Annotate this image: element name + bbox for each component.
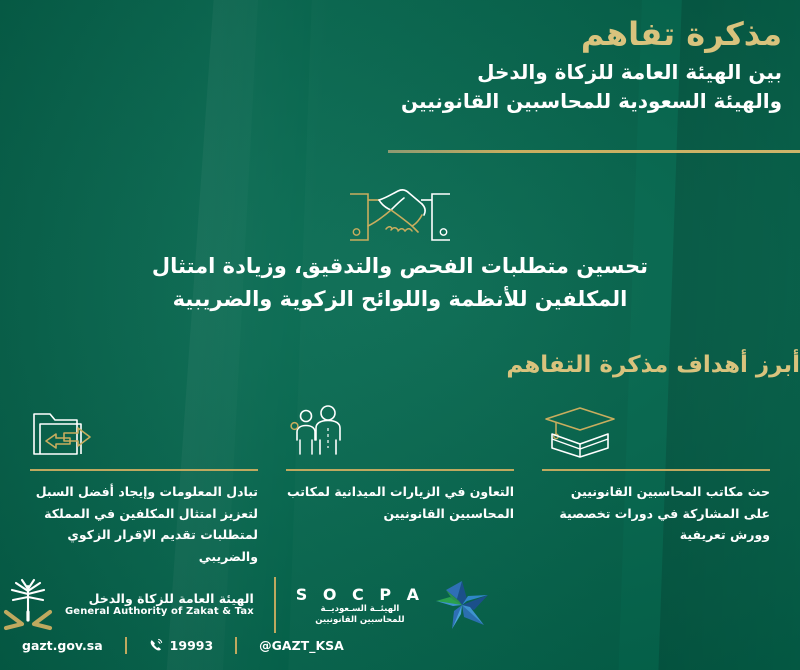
socpa-name-arabic-1: الهيئــة السـعوديــة <box>296 604 424 614</box>
footer-social-handle[interactable]: @GAZT_KSA <box>259 638 344 653</box>
socpa-logo: S O C P A الهيئــة السـعوديــة للمحاسبين… <box>296 579 490 631</box>
handshake-icon-wrap <box>0 186 800 248</box>
goal-text: حث مكاتب المحاسبين القانونيين على المشار… <box>542 481 770 546</box>
socpa-wordmark: S O C P A الهيئــة السـعوديــة للمحاسبين… <box>296 585 424 625</box>
goal-text: تبادل المعلومات وإيجاد أفضل السبل لتعزيز… <box>30 481 258 567</box>
hero-statement-line-2: المكلفين للأنظمة واللوائح الزكوية والضري… <box>125 283 675 316</box>
page-title: مذكرة تفاهم <box>0 14 782 54</box>
goal-item-education: حث مكاتب المحاسبين القانونيين على المشار… <box>528 402 784 546</box>
footer-separator <box>235 637 237 654</box>
goal-text: التعاون في الزيارات الميدانية لمكاتب الم… <box>286 481 514 524</box>
goal-icon-wrap <box>286 402 514 460</box>
socpa-star-logo <box>434 579 490 631</box>
goals-row: حث مكاتب المحاسبين القانونيين على المشار… <box>0 402 800 567</box>
hero-statement: تحسين متطلبات الفحص والتدقيق، وزيادة امت… <box>0 250 800 315</box>
handshake-icon <box>346 186 454 248</box>
footer-website[interactable]: gazt.gov.sa <box>22 638 103 653</box>
footer-website-label: gazt.gov.sa <box>22 638 103 653</box>
graduation-cap-book-icon <box>542 404 618 460</box>
folder-exchange-icon <box>30 404 94 460</box>
goal-item-field-visits: التعاون في الزيارات الميدانية لمكاتب الم… <box>272 402 528 524</box>
footer-separator <box>125 637 127 654</box>
footer-contact-bar: gazt.gov.sa 19993 @GAZT_KSA <box>0 637 800 654</box>
gazt-name-arabic: الهيئة العامة للزكاة والدخل <box>65 592 254 606</box>
gazt-logo: الهيئة العامة للزكاة والدخل General Auth… <box>0 578 254 632</box>
gazt-wordmark: الهيئة العامة للزكاة والدخل General Auth… <box>65 592 254 617</box>
goal-divider <box>30 469 258 471</box>
subtitle-line-2: والهيئة السعودية للمحاسبين القانونيين <box>0 87 782 116</box>
gazt-palm-swords-logo <box>0 578 56 632</box>
socpa-name-english: S O C P A <box>296 585 424 604</box>
socpa-name-arabic-2: للمحاسبين القانونيين <box>296 615 424 625</box>
footer-social-handle-label: @GAZT_KSA <box>259 638 344 653</box>
hero-statement-line-1: تحسين متطلبات الفحص والتدقيق، وزيادة امت… <box>125 250 675 283</box>
goal-divider <box>542 469 770 471</box>
goal-item-information-exchange: تبادل المعلومات وإيجاد أفضل السبل لتعزيز… <box>16 402 272 567</box>
phone-ringing-icon <box>149 638 164 653</box>
footer-phone-number: 19993 <box>170 638 214 653</box>
goal-divider <box>286 469 514 471</box>
subtitle-line-1: بين الهيئة العامة للزكاة والدخل <box>0 58 782 87</box>
logos-row: الهيئة العامة للزكاة والدخل General Auth… <box>0 566 800 644</box>
poster-header: مذكرة تفاهم بين الهيئة العامة للزكاة وال… <box>0 14 800 116</box>
footer-phone[interactable]: 19993 <box>149 638 214 653</box>
infographic-poster: مذكرة تفاهم بين الهيئة العامة للزكاة وال… <box>0 0 800 670</box>
title-divider <box>388 150 800 153</box>
section-heading: أبرز أهداف مذكرة التفاهم <box>0 352 800 378</box>
gazt-name-english: General Authority of Zakat & Tax <box>65 606 254 617</box>
two-people-icon <box>286 404 346 460</box>
goal-icon-wrap <box>542 402 770 460</box>
goal-icon-wrap <box>30 402 258 460</box>
logo-separator <box>274 577 276 633</box>
